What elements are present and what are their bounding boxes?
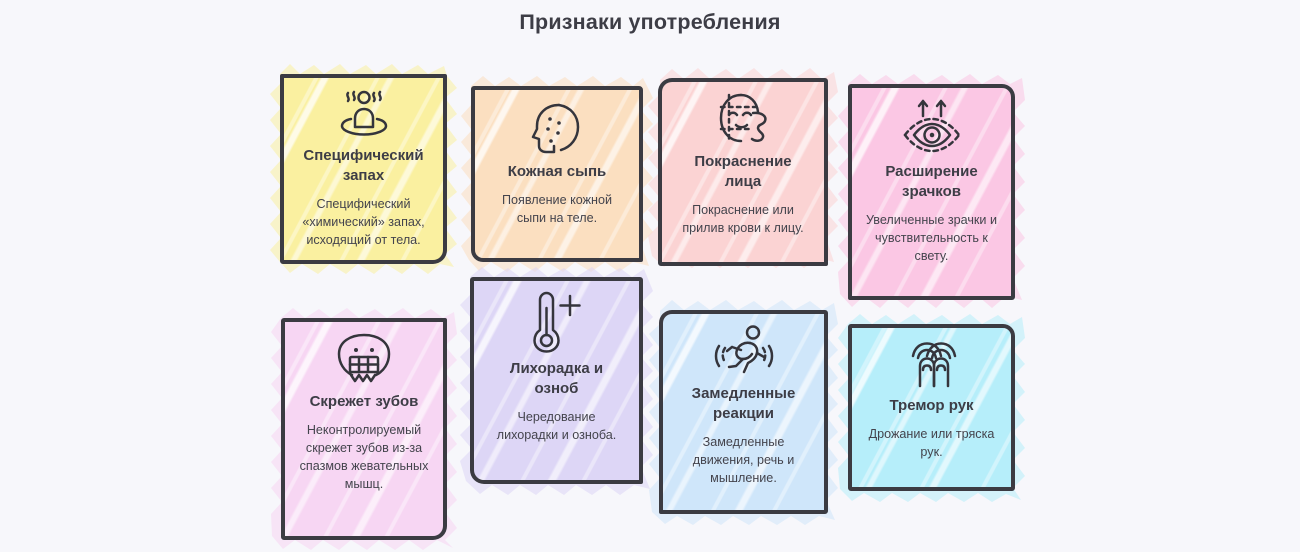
card-title: Специфический запах <box>298 146 429 186</box>
sign-card-slowed-reactions[interactable]: Замедленные реакции Замедленные движения… <box>659 310 828 514</box>
card-title: Кожная сыпь <box>508 162 607 182</box>
trembling-hands-icon <box>903 338 961 390</box>
card-description: Покраснение или прилив крови к лицу. <box>676 201 810 237</box>
thermometer-plus-icon <box>531 291 583 353</box>
grinding-teeth-face-icon <box>335 332 393 386</box>
card-description: Увеличенные зрачки и чувствительность к … <box>866 211 997 265</box>
card-description: Специфический «химический» запах, исходя… <box>298 195 429 249</box>
sign-card-dilated-pupils[interactable]: Расширение зрачков Увеличенные зрачки и … <box>848 84 1015 300</box>
sign-card-skin-rash[interactable]: Кожная сыпь Появление кожной сыпи на тел… <box>471 86 643 262</box>
head-rash-icon <box>528 100 586 156</box>
dilated-eye-icon <box>901 98 963 156</box>
card-title: Расширение зрачков <box>866 162 997 202</box>
running-person-motion-icon <box>714 324 774 378</box>
sign-card-hand-tremor[interactable]: Тремор рук Дрожание или тряска рук. <box>848 324 1015 491</box>
card-title: Замедленные реакции <box>677 384 810 424</box>
card-description: Неконтролируемый скрежет зубов из-за спа… <box>299 421 429 494</box>
card-title: Лихорадка и озноб <box>488 359 625 399</box>
card-description: Чередование лихорадки и озноба. <box>488 408 625 444</box>
sign-card-teeth-grinding[interactable]: Скрежет зубов Неконтролируемый скрежет з… <box>281 318 447 540</box>
sign-card-specific-smell[interactable]: Специфический запах Специфический «химич… <box>280 74 447 264</box>
sign-card-fever-chills[interactable]: Лихорадка и озноб Чередование лихорадки … <box>470 277 643 484</box>
card-description: Замедленные движения, речь и мышление. <box>677 433 810 487</box>
card-title: Покраснение лица <box>676 152 810 192</box>
card-description: Дрожание или тряска рук. <box>866 425 997 461</box>
sign-card-facial-redness[interactable]: Покраснение лица Покраснение или прилив … <box>658 78 828 266</box>
card-description: Появление кожной сыпи на теле. <box>489 191 625 227</box>
card-title: Скрежет зубов <box>310 392 419 412</box>
flushed-face-icon <box>714 92 772 146</box>
signs-card-grid: Специфический запах Специфический «химич… <box>0 0 1300 546</box>
smell-person-icon <box>335 88 393 140</box>
card-title: Тремор рук <box>889 396 973 416</box>
